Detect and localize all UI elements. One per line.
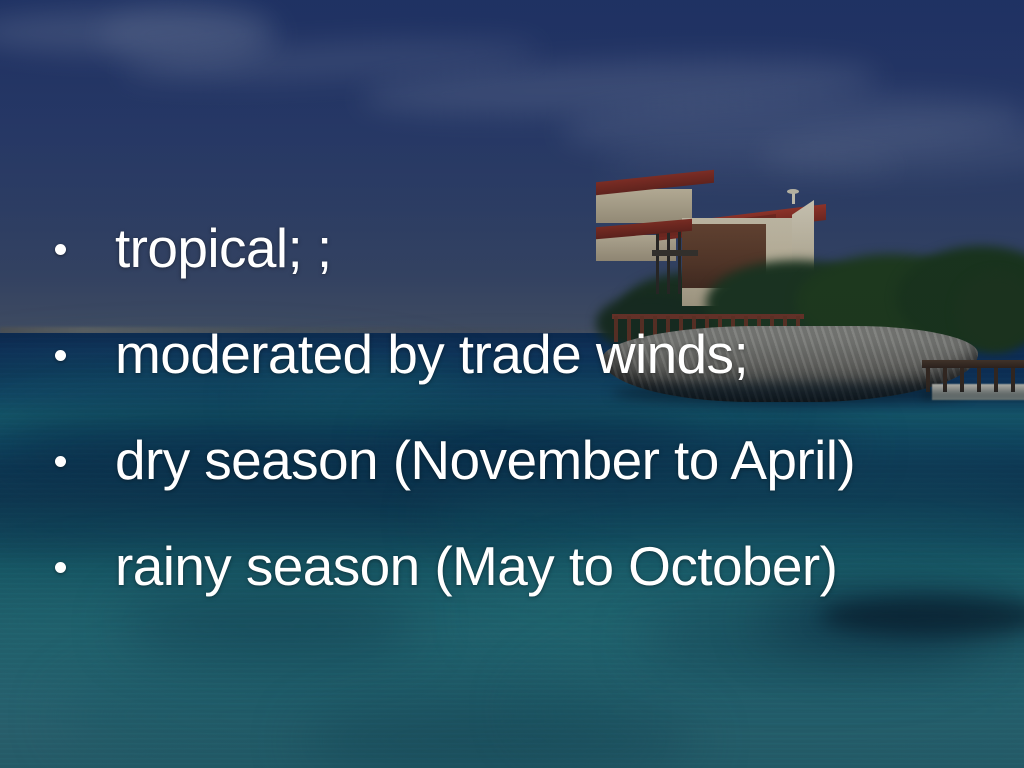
list-item: rainy season (May to October) — [46, 514, 1006, 620]
list-item: tropical; ; — [46, 196, 1006, 302]
bullet-text: dry season (November to April) — [115, 432, 855, 489]
list-item: moderated by trade winds; — [46, 302, 1006, 408]
bullet-dot-icon — [55, 456, 66, 467]
bullet-dot-icon — [55, 562, 66, 573]
presentation-slide: tropical; ; moderated by trade winds; dr… — [0, 0, 1024, 768]
bullet-text: moderated by trade winds; — [115, 326, 748, 383]
slide-content: tropical; ; moderated by trade winds; dr… — [0, 0, 1024, 768]
list-item: dry season (November to April) — [46, 408, 1006, 514]
bullet-list: tropical; ; moderated by trade winds; dr… — [46, 196, 1006, 620]
bullet-text: tropical; ; — [115, 220, 332, 277]
bullet-text: rainy season (May to October) — [115, 538, 837, 595]
bullet-dot-icon — [55, 350, 66, 361]
bullet-dot-icon — [55, 244, 66, 255]
